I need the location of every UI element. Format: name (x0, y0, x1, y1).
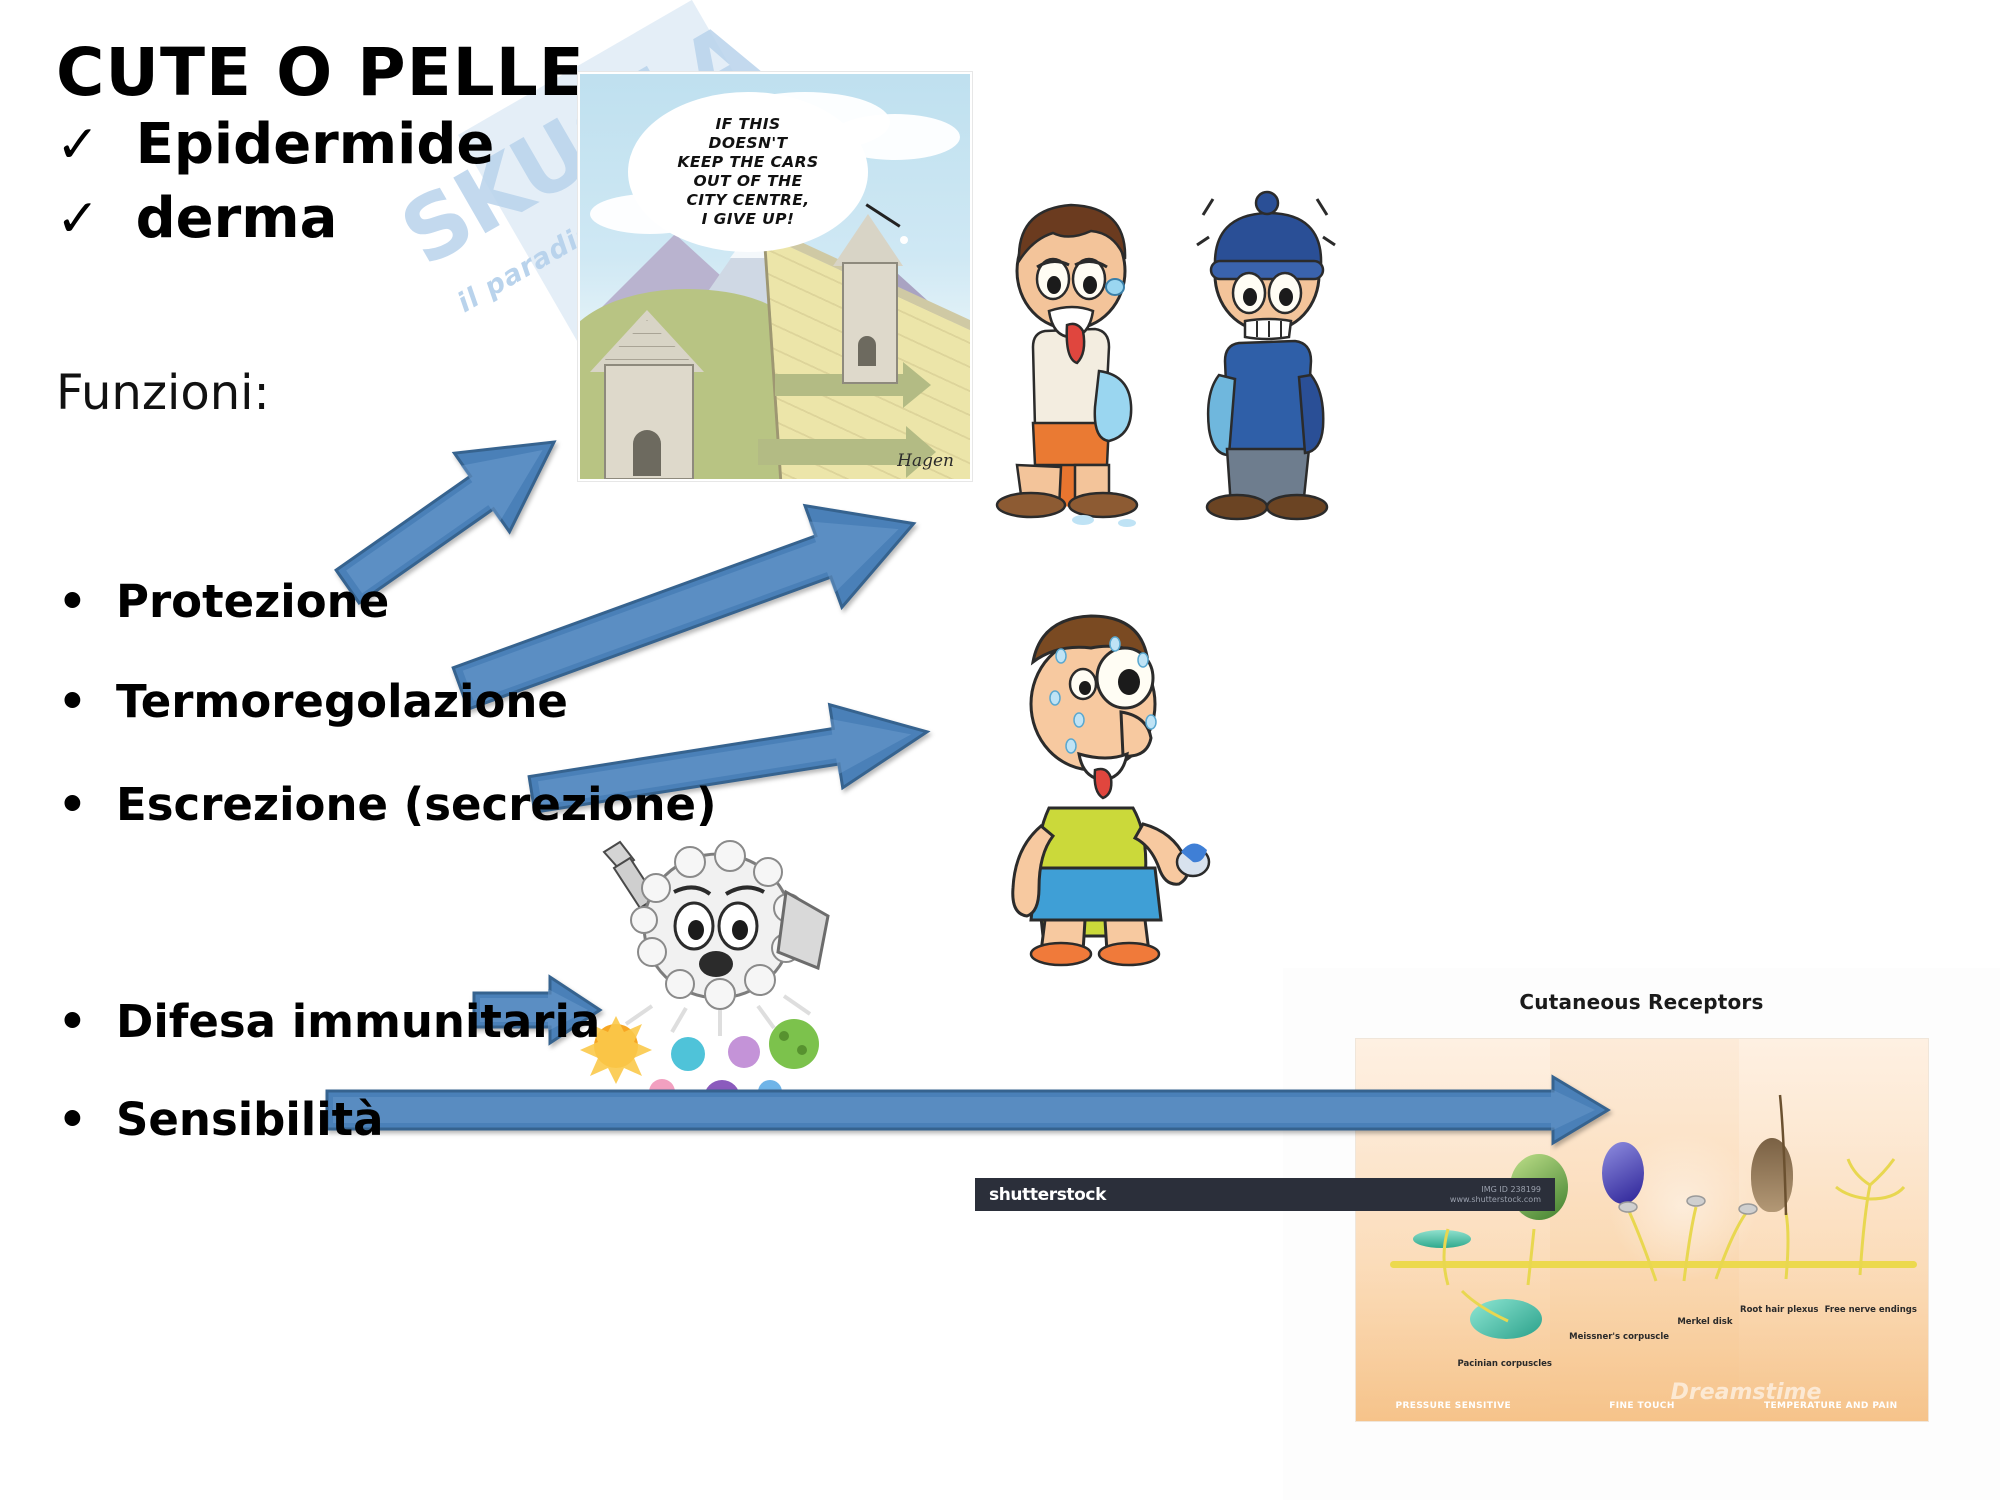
zone-label-pressure: PRESSURE SENSITIVE (1367, 1401, 1539, 1411)
bullet-label: Sensibilità (116, 1093, 384, 1146)
receptor-label-meissner: Meissner's corpuscle (1568, 1333, 1671, 1343)
check-item-derma: ✓ derma (56, 186, 337, 251)
page-title: CUTE O PELLE (56, 38, 585, 107)
check-item-epidermide: ✓ Epidermide (56, 112, 494, 177)
shutterstock-logo: shutterstock (989, 1185, 1106, 1205)
bullet-label: Termoregolazione (116, 675, 568, 728)
tower-door (858, 336, 876, 366)
bullet-protezione: • Protezione (58, 575, 389, 628)
bullet-difesa-immunitaria: • Difesa immunitaria (58, 995, 600, 1048)
bullet-label: Escrezione (secrezione) (116, 778, 717, 831)
shutterstock-watermark-bar: shutterstock IMG ID 238199 www.shutterst… (975, 1178, 1555, 1211)
bullet-dot: • (58, 1097, 116, 1142)
bullet-dot: • (58, 679, 116, 724)
tower-door (633, 430, 661, 476)
wall-cartoon-image: IF THIS DOESN'T KEEP THE CARS OUT OF THE… (578, 72, 972, 481)
receptor-label-free-nerve: Free nerve endings (1814, 1306, 1928, 1316)
thermoregulation-kids-image (975, 175, 1375, 530)
bullet-dot: • (58, 782, 116, 827)
speech-bubble: IF THIS DOESN'T KEEP THE CARS OUT OF THE… (628, 92, 868, 252)
bullet-escrezione: • Escrezione (secrezione) (58, 778, 717, 831)
speech-bubble-dot (900, 236, 908, 244)
bullet-dot: • (58, 579, 116, 624)
check-item-label: derma (136, 186, 338, 251)
slide-canvas: SKUOLA il paradiso della CUTE O PELLE ✓ … (0, 0, 2000, 1500)
bullet-label: Difesa immunitaria (116, 995, 600, 1048)
receptors-title: Cutaneous Receptors (1283, 990, 2000, 1014)
bullet-termoregolazione: • Termoregolazione (58, 675, 568, 728)
ground-arrow-shape (758, 439, 908, 465)
sweating-man-image (975, 600, 1305, 970)
receptor-label-root-hair: Root hair plexus (1734, 1306, 1826, 1316)
sweating-man-illustration (975, 600, 1305, 970)
check-icon: ✓ (56, 119, 100, 171)
check-icon: ✓ (56, 193, 100, 245)
cartoon-signature: Hagen (897, 451, 954, 471)
dreamstime-watermark: Dreamstime (1671, 1380, 1822, 1405)
cold-boy-figure (1197, 192, 1335, 519)
hot-boy-figure (997, 205, 1137, 527)
receptor-label-merkel: Merkel disk (1659, 1318, 1751, 1328)
bullet-dot: • (58, 999, 116, 1044)
bullet-sensibilita: • Sensibilità (58, 1093, 384, 1146)
speech-bubble-text: IF THIS DOESN'T KEEP THE CARS OUT OF THE… (677, 115, 818, 228)
receptor-label-pacinian: Pacinian corpuscles (1448, 1360, 1562, 1370)
section-label-funzioni: Funzioni: (56, 365, 270, 421)
arrow-to-sensibility (325, 1075, 1610, 1145)
check-item-label: Epidermide (136, 112, 495, 177)
bullet-label: Protezione (116, 575, 389, 628)
shutterstock-image-id: IMG ID 238199 www.shutterstock.com (1450, 1185, 1541, 1205)
kids-illustration (975, 175, 1375, 530)
cutaneous-receptors-diagram: Cutaneous Receptors (1283, 968, 2000, 1500)
